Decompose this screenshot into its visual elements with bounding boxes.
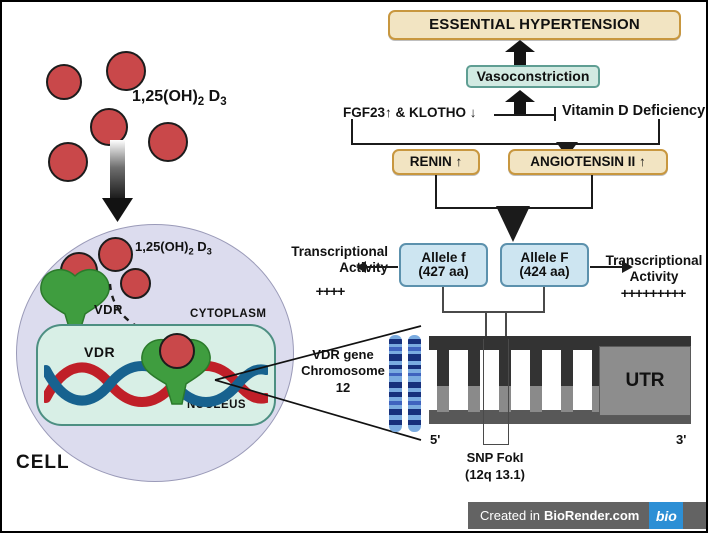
connector-vitd-down — [658, 119, 660, 145]
exon — [437, 348, 449, 412]
angiotensin-box[interactable]: ANGIOTENSIN II ↑ — [508, 149, 668, 175]
ligand-molecule-outside — [106, 51, 146, 91]
connector-vitd-across — [567, 143, 660, 145]
ligand-bound-to-vdr — [159, 333, 195, 369]
left-activity-line1: Transcriptional — [290, 244, 388, 260]
allele-f-lower-box[interactable]: Allele f (427 aa) — [399, 243, 488, 287]
vitamin-d-deficiency-label: Vitamin D Deficiency — [562, 103, 705, 120]
allele-F-upper-box[interactable]: Allele F (424 aa) — [500, 243, 589, 287]
ligand-label-outside: 1,25(OH)2 D3 — [132, 88, 227, 109]
inhibition-tbar — [554, 107, 556, 121]
snp-label-line2: (12q 13.1) — [445, 467, 545, 484]
allele-f-lower-name: Allele f — [421, 251, 465, 265]
chromosome-label-line1: VDR gene — [300, 347, 386, 363]
connector-allele-span — [442, 311, 545, 313]
ligand-entry-arrow — [98, 140, 138, 226]
cytoplasm-label: CYTOPLASM — [190, 308, 267, 321]
left-activity-plus: ++++ — [290, 283, 370, 299]
arrow-left-activity — [356, 260, 400, 274]
arrow-right-activity — [590, 260, 634, 274]
connector-angiotensin-across — [528, 207, 593, 209]
snp-fokI-window — [483, 339, 509, 445]
arrow-vasoconstriction-to-hypertension — [503, 40, 537, 66]
biorender-brand: BioRender.com — [544, 508, 639, 523]
connector-renin-down — [435, 175, 437, 209]
vdr-gene-chromosome-label: VDR gene Chromosome 12 — [300, 347, 386, 396]
connector-allele-F-down — [543, 287, 545, 313]
connector-snp-left — [485, 311, 487, 339]
ligand-label-cytoplasm: 1,25(OH)2 D3 — [135, 240, 212, 257]
five-prime-label: 5' — [430, 433, 440, 448]
allele-f-lower-size: (427 aa) — [418, 265, 468, 279]
allele-F-upper-name: Allele F — [520, 251, 568, 265]
essential-hypertension-box[interactable]: ESSENTIAL HYPERTENSION — [388, 10, 681, 40]
chromosome-label-line3: 12 — [300, 380, 386, 396]
vasoconstriction-box[interactable]: Vasoconstriction — [466, 65, 600, 88]
arrow-into-alleles — [496, 206, 530, 243]
chromatid-left — [389, 335, 402, 432]
snp-fokI-label: SNP FokI (12q 13.1) — [445, 450, 545, 484]
right-activity-plus: +++++++++ — [600, 285, 706, 301]
fgf23-klotho-label: FGF23↑ & KLOTHO ↓ — [343, 105, 477, 121]
chromosome-label-line2: Chromosome — [300, 363, 386, 379]
cell-label: CELL — [16, 452, 70, 474]
arrow-to-vasoconstriction — [503, 88, 537, 114]
connector-allele-f-down — [442, 287, 444, 313]
utr-region: UTR — [599, 346, 691, 416]
chromatid-right — [408, 335, 421, 432]
exon — [561, 348, 573, 412]
vdr-gene-map: UTR — [429, 336, 691, 424]
figure-canvas: 1,25(OH)2 D3 1,25(OH)2 D3 VDR CYTOPLASM … — [0, 0, 708, 533]
connector-angiotensin-down — [591, 175, 593, 209]
inhibition-line — [494, 114, 556, 116]
snp-label-line1: SNP FokI — [445, 450, 545, 467]
biorender-watermark: Created in BioRender.com bio — [468, 502, 708, 529]
allele-F-upper-size: (424 aa) — [519, 265, 569, 279]
biorender-created-text: Created in — [480, 508, 540, 523]
connector-fgf23-down — [351, 119, 353, 145]
ligand-molecule-outside — [46, 64, 82, 100]
exon — [530, 348, 542, 412]
renin-box[interactable]: RENIN ↑ — [392, 149, 480, 175]
connector-snp-right — [505, 311, 507, 339]
connector-renin-across — [435, 207, 498, 209]
connector-fgf23-across — [351, 143, 567, 145]
ligand-molecule-outside — [48, 142, 88, 182]
three-prime-label: 3' — [676, 433, 686, 448]
exon — [468, 348, 480, 412]
biorender-logo: bio — [649, 502, 683, 529]
ligand-molecule-outside — [148, 122, 188, 162]
